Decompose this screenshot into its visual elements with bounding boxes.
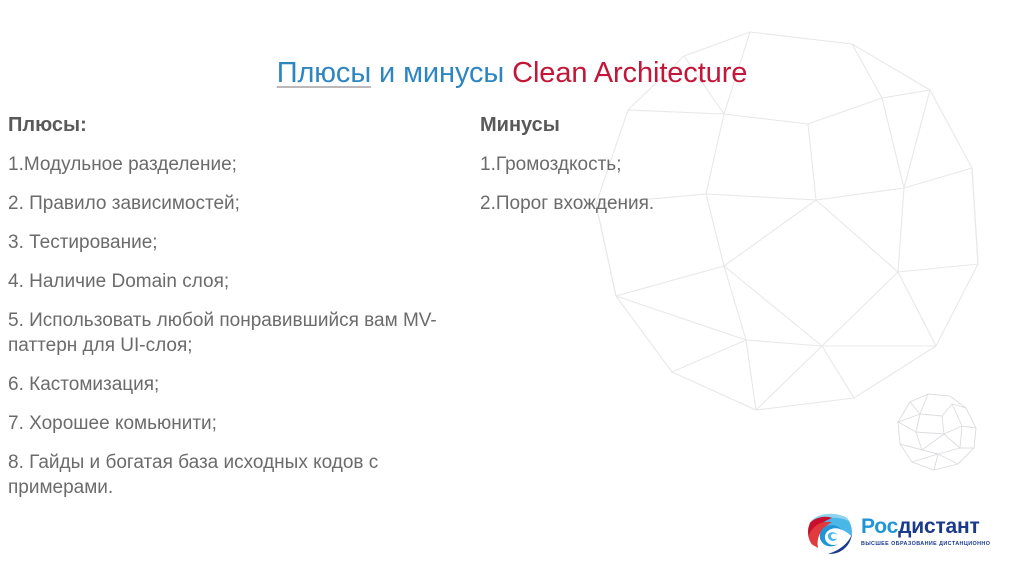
globe-swirl-icon	[806, 508, 854, 556]
page-title: Плюсы и минусы Clean Architecture	[0, 56, 1024, 90]
logo-wordmark: Росдистант	[861, 516, 990, 538]
wireframe-sphere-small-icon	[894, 392, 980, 474]
list-item: 2. Правило зависимостей;	[8, 191, 476, 216]
title-part-blue: и минусы	[371, 57, 512, 89]
title-part-red: Clean Architecture	[512, 57, 747, 89]
logo-word-first: Рос	[861, 515, 898, 538]
list-item: 6. Кастомизация;	[8, 372, 476, 397]
list-item: 1.Громоздкость;	[480, 152, 810, 177]
list-item: 7. Хорошее комьюнити;	[8, 411, 476, 436]
title-part-underlined: Плюсы	[277, 57, 371, 89]
pros-column: Плюсы: 1.Модульное разделение; 2. Правил…	[8, 112, 476, 514]
list-item: 1.Модульное разделение;	[8, 152, 476, 177]
cons-heading: Минусы	[480, 112, 810, 138]
list-item: 2.Порог вхождения.	[480, 191, 810, 216]
list-item: 5. Использовать любой понравившийся вам …	[8, 308, 476, 358]
rosdistant-logo: Росдистант ВЫСШЕЕ ОБРАЗОВАНИЕ ДИСТАНЦИОН…	[806, 506, 1006, 558]
slide-canvas: Плюсы и минусы Clean Architecture Плюсы:…	[0, 0, 1024, 576]
pros-list: 1.Модульное разделение; 2. Правило завис…	[8, 152, 476, 500]
cons-list: 1.Громоздкость; 2.Порог вхождения.	[480, 152, 810, 216]
list-item: 3. Тестирование;	[8, 230, 476, 255]
logo-tagline: ВЫСШЕЕ ОБРАЗОВАНИЕ ДИСТАНЦИОННО	[861, 540, 990, 548]
pros-heading: Плюсы:	[8, 112, 476, 138]
list-item: 4. Наличие Domain слоя;	[8, 269, 476, 294]
list-item: 8. Гайды и богатая база исходных кодов с…	[8, 450, 476, 500]
logo-word-second: дистант	[898, 515, 979, 538]
cons-column: Минусы 1.Громоздкость; 2.Порог вхождения…	[480, 112, 810, 230]
logo-text-block: Росдистант ВЫСШЕЕ ОБРАЗОВАНИЕ ДИСТАНЦИОН…	[861, 516, 990, 548]
